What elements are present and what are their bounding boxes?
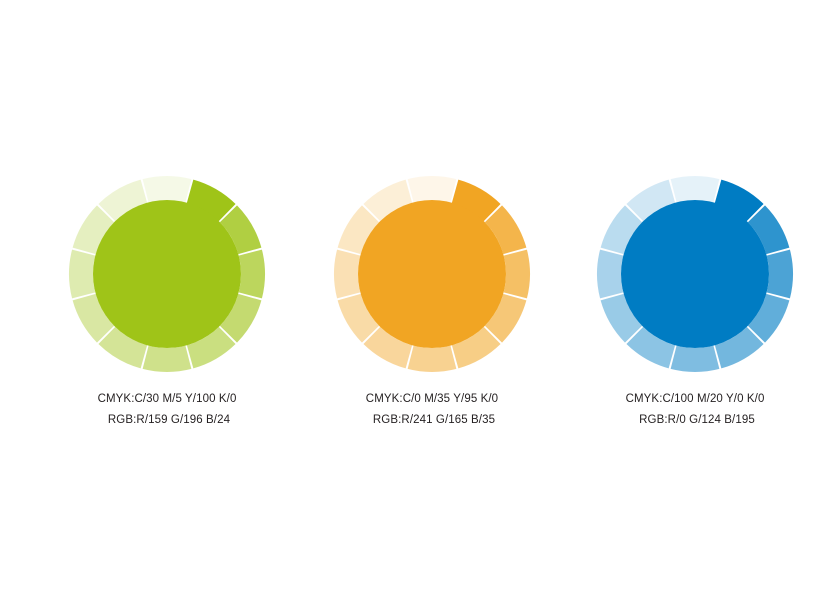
core-disc-green (93, 200, 241, 348)
palette-board: CMYK:C/30 M/5 Y/100 K/0RGB:R/159 G/196 B… (0, 0, 838, 597)
color-caption-blue: CMYK:C/100 M/20 Y/0 K/0RGB:R/0 G/124 B/1… (565, 389, 825, 432)
color-wheel-blue (597, 176, 793, 372)
tint-segment-orange-6 (408, 346, 457, 372)
color-caption-orange: CMYK:C/0 M/35 Y/95 K/0RGB:R/241 G/165 B/… (302, 389, 562, 432)
tint-wheel-graphic-orange (334, 176, 530, 372)
rgb-value-orange: RGB:R/241 G/165 B/35 (306, 410, 562, 431)
rgb-value-blue: RGB:R/0 G/124 B/195 (569, 410, 825, 431)
tint-wheel-graphic-blue (597, 176, 793, 372)
rgb-value-green: RGB:R/159 G/196 B/24 (41, 410, 297, 431)
cmyk-value-orange: CMYK:C/0 M/35 Y/95 K/0 (302, 389, 562, 410)
tint-segment-green-9 (69, 250, 95, 299)
tint-segment-green-3 (239, 250, 265, 299)
tint-segment-orange-12 (408, 176, 457, 202)
tint-segment-orange-9 (334, 250, 360, 299)
color-wheel-orange (334, 176, 530, 372)
tint-segment-green-12 (143, 176, 192, 202)
color-caption-green: CMYK:C/30 M/5 Y/100 K/0RGB:R/159 G/196 B… (37, 389, 297, 432)
tint-wheel-graphic-green (69, 176, 265, 372)
cmyk-value-green: CMYK:C/30 M/5 Y/100 K/0 (37, 389, 297, 410)
tint-segment-blue-3 (767, 250, 793, 299)
tint-segment-blue-6 (671, 346, 720, 372)
cmyk-value-blue: CMYK:C/100 M/20 Y/0 K/0 (565, 389, 825, 410)
tint-segment-blue-9 (597, 250, 623, 299)
core-disc-blue (621, 200, 769, 348)
core-disc-orange (358, 200, 506, 348)
tint-segment-blue-12 (671, 176, 720, 202)
tint-segment-orange-3 (504, 250, 530, 299)
tint-segment-green-6 (143, 346, 192, 372)
color-wheel-green (69, 176, 265, 372)
